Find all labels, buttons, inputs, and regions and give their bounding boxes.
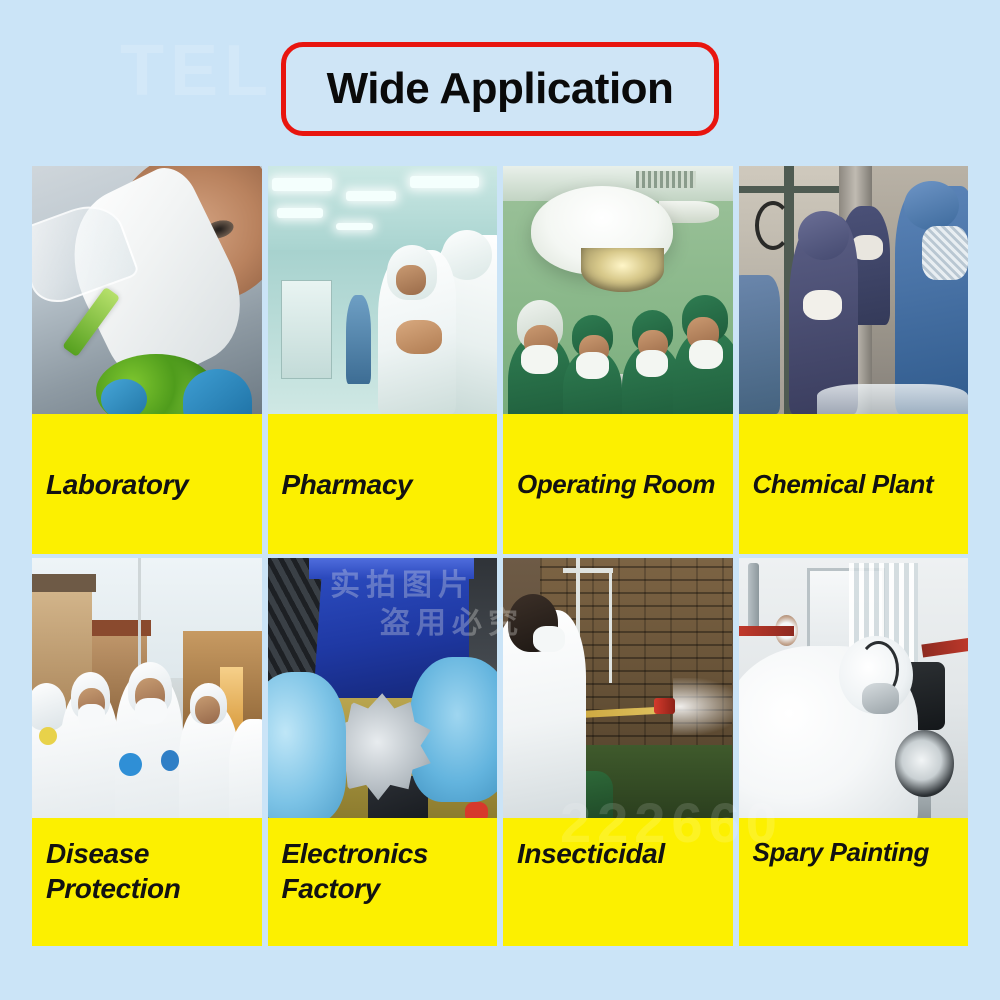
operating-room-label-band: Operating Room (503, 414, 733, 554)
application-label: Insecticidal (517, 836, 665, 871)
application-label: Pharmacy (282, 467, 413, 502)
application-card-electronics-factory[interactable]: Electronics Factory (268, 558, 498, 946)
application-card-disease-protection[interactable]: Disease Protection (32, 558, 262, 946)
application-card-spary-painting[interactable]: Spary Painting (739, 558, 969, 946)
spary-painting-label-band: Spary Painting (739, 818, 969, 946)
application-card-pharmacy[interactable]: Pharmacy (268, 166, 498, 554)
spary-painting-photo (739, 558, 969, 818)
chemical-plant-photo (739, 166, 969, 414)
pharmacy-photo (268, 166, 498, 414)
application-label: Laboratory (46, 467, 188, 502)
application-label: Spary Painting (753, 836, 929, 869)
application-card-operating-room[interactable]: Operating Room (503, 166, 733, 554)
application-label: Electronics Factory (282, 836, 429, 906)
laboratory-photo (32, 166, 262, 414)
disease-protection-photo (32, 558, 262, 818)
laboratory-label-band: Laboratory (32, 414, 262, 554)
application-label: Disease Protection (46, 836, 180, 906)
page-header: Wide Application (0, 42, 1000, 136)
insecticidal-label-band: Insecticidal (503, 818, 733, 946)
chemical-plant-label-band: Chemical Plant (739, 414, 969, 554)
insecticidal-photo (503, 558, 733, 818)
application-card-laboratory[interactable]: Laboratory (32, 166, 262, 554)
operating-room-photo (503, 166, 733, 414)
application-grid: Laboratory (32, 166, 968, 946)
application-label: Operating Room (517, 468, 715, 501)
title-badge: Wide Application (281, 42, 719, 136)
application-card-chemical-plant[interactable]: Chemical Plant (739, 166, 969, 554)
application-label: Chemical Plant (753, 468, 934, 501)
application-card-insecticidal[interactable]: Insecticidal (503, 558, 733, 946)
electronics-factory-photo (268, 558, 498, 818)
electronics-factory-label-band: Electronics Factory (268, 818, 498, 946)
disease-protection-label-band: Disease Protection (32, 818, 262, 946)
pharmacy-label-band: Pharmacy (268, 414, 498, 554)
page-title: Wide Application (327, 64, 674, 114)
